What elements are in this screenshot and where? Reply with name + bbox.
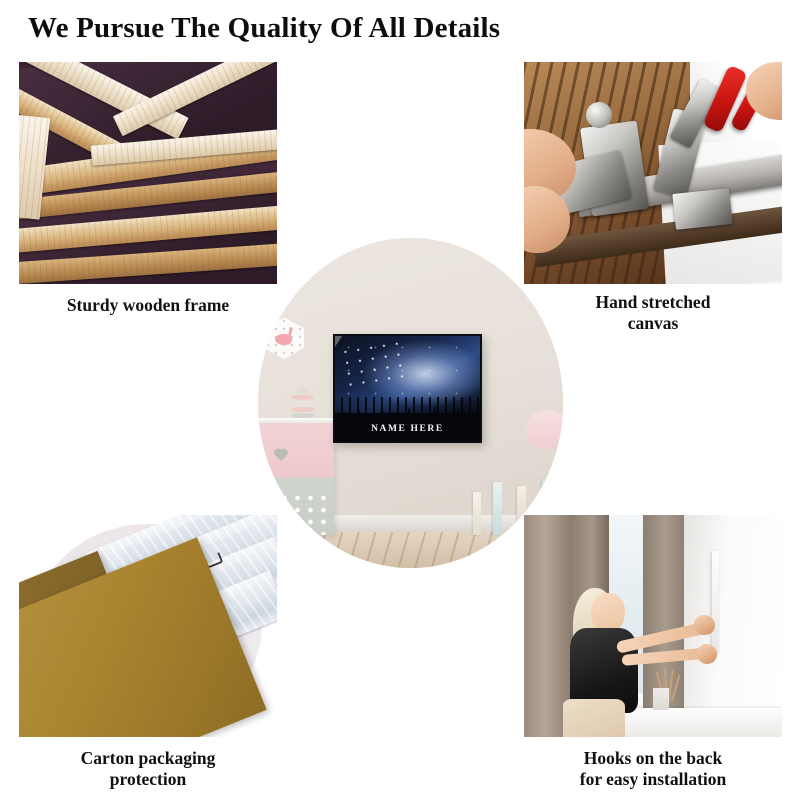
toy-ring-2 bbox=[292, 401, 314, 406]
toy-ring-4 bbox=[292, 413, 314, 418]
toy-ring-3 bbox=[292, 407, 314, 412]
leaning-poster-2 bbox=[517, 486, 526, 536]
console-table bbox=[617, 708, 782, 737]
heart-icon bbox=[273, 449, 289, 463]
room-wood-floor bbox=[258, 532, 563, 568]
center-room-preview: NAME HERE bbox=[258, 238, 563, 568]
leaning-poster-1 bbox=[542, 479, 551, 535]
carton-packaging-photo bbox=[19, 515, 277, 737]
caption-sturdy-wooden-frame: Sturdy wooden frame bbox=[19, 295, 277, 316]
caption-line: protection bbox=[19, 769, 277, 790]
artwork-name-text: NAME HERE bbox=[335, 424, 480, 434]
leaning-poster-4 bbox=[473, 492, 481, 535]
person-pants bbox=[563, 699, 625, 737]
reed-diffuser-bottle bbox=[653, 688, 669, 710]
page-title: We Pursue The Quality Of All Details bbox=[28, 8, 768, 48]
person-face bbox=[591, 593, 625, 633]
toy-top bbox=[297, 387, 307, 394]
person-hand-upper bbox=[694, 615, 715, 635]
canvas-being-hung bbox=[712, 551, 719, 653]
wooden-frames-photo bbox=[19, 62, 277, 284]
person-hand-lower bbox=[697, 644, 718, 664]
leaning-poster-3 bbox=[493, 482, 502, 535]
caption-carton-packaging: Carton packaging protection bbox=[19, 748, 277, 790]
plier-foot bbox=[672, 188, 732, 229]
toy-ring-1 bbox=[292, 395, 314, 400]
caption-line: Carton packaging bbox=[19, 748, 277, 769]
wall-canvas-artwork: NAME HERE bbox=[333, 334, 482, 443]
feature-photo-sturdy-wooden-frame bbox=[19, 62, 277, 284]
wall-lamp bbox=[526, 410, 563, 450]
dresser-polka-dots bbox=[258, 492, 334, 535]
artwork-image: NAME HERE bbox=[335, 336, 480, 441]
plier-knob bbox=[586, 102, 612, 128]
caption-line: Sturdy wooden frame bbox=[19, 295, 277, 316]
caption-line: Hooks on the back bbox=[524, 748, 782, 769]
feature-photo-carton-packaging bbox=[19, 515, 277, 737]
infographic-page: We Pursue The Quality Of All Details Stu… bbox=[0, 0, 800, 800]
caption-line: for easy installation bbox=[524, 769, 782, 790]
caption-hooks-on-back: Hooks on the back for easy installation bbox=[524, 748, 782, 790]
